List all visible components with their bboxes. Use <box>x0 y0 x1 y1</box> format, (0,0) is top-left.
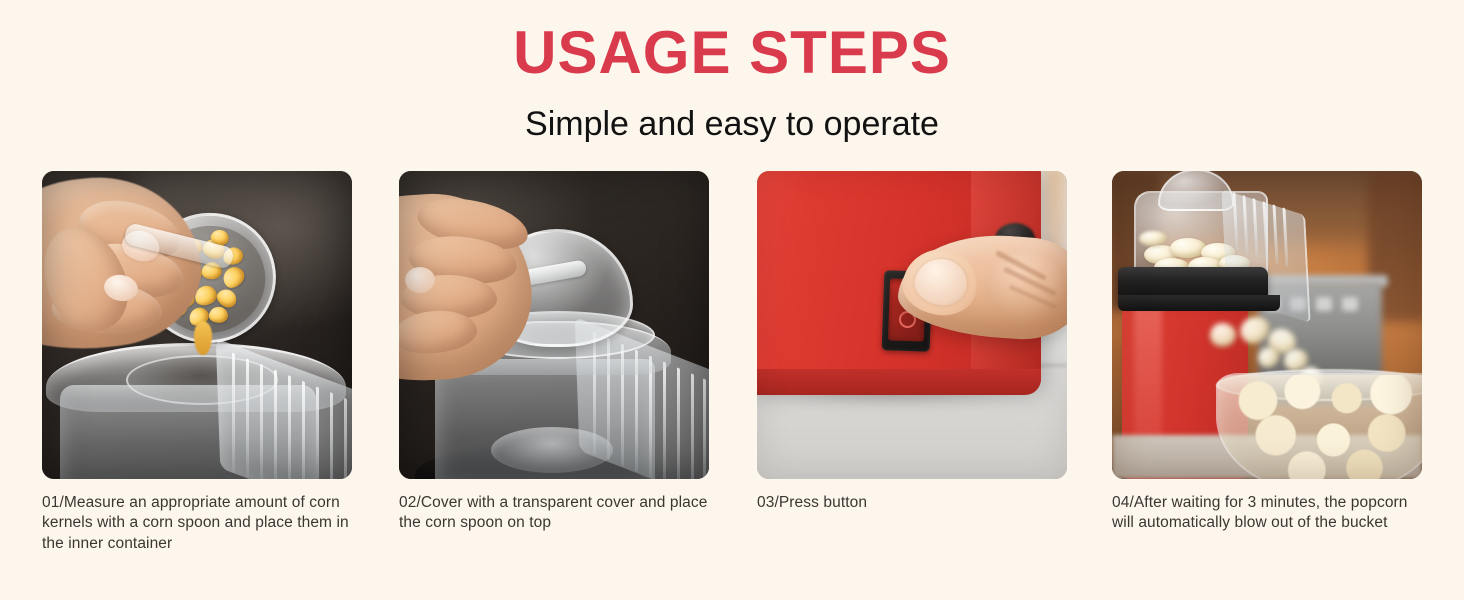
step-caption: 02/Cover with a transparent cover and pl… <box>399 493 717 534</box>
step-2-photo <box>399 171 709 479</box>
step-item: 03/Press button <box>757 171 1067 513</box>
step-item: 02/Cover with a transparent cover and pl… <box>399 171 709 534</box>
step-item: 01/Measure an appropriate amount of corn… <box>42 171 352 554</box>
step-4-photo <box>1112 171 1422 479</box>
photo-vignette <box>399 171 709 479</box>
step-caption: 04/After waiting for 3 minutes, the popc… <box>1112 493 1430 534</box>
steps-row: 01/Measure an appropriate amount of corn… <box>0 171 1464 571</box>
step-3-photo <box>757 171 1067 479</box>
step-caption: 01/Measure an appropriate amount of corn… <box>42 493 360 554</box>
step-1-photo <box>42 171 352 479</box>
photo-vignette <box>42 171 352 479</box>
photo-vignette <box>1112 171 1422 479</box>
step-caption: 03/Press button <box>757 493 1075 513</box>
usage-steps-banner: USAGE STEPS Simple and easy to operate <box>0 0 1464 600</box>
page-title: USAGE STEPS <box>0 20 1464 86</box>
step-item: 04/After waiting for 3 minutes, the popc… <box>1112 171 1422 534</box>
photo-vignette <box>757 171 1067 479</box>
page-subtitle: Simple and easy to operate <box>0 104 1464 145</box>
